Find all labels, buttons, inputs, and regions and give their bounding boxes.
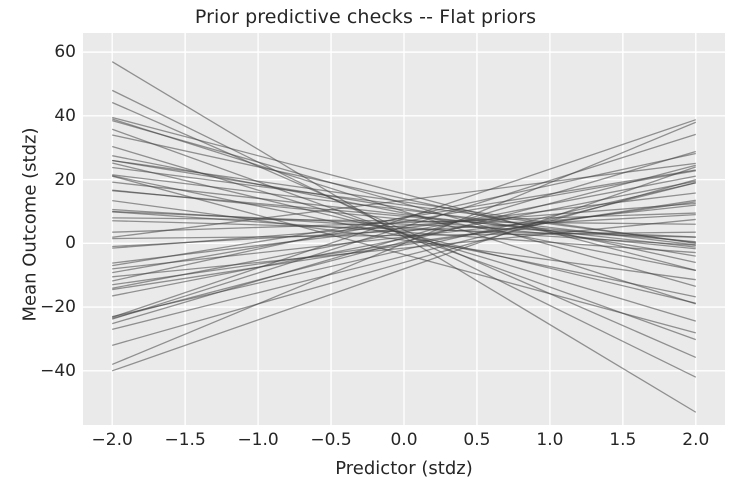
- x-tick-label: 2.0: [651, 430, 731, 450]
- chart-figure: Prior predictive checks -- Flat priors 6…: [0, 0, 731, 491]
- x-axis-tick-labels: −2.0−1.5−1.0−0.50.00.51.01.52.0: [0, 0, 731, 491]
- y-axis-label: Mean Outcome (stdz): [20, 25, 41, 425]
- x-axis-label: Predictor (stdz): [83, 458, 725, 479]
